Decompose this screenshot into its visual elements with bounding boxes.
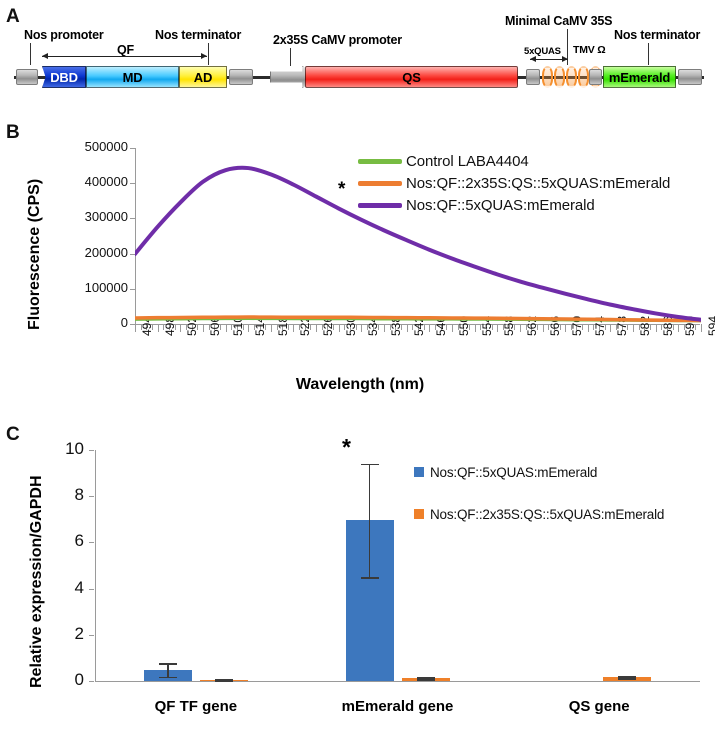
panel-b-x-tick bbox=[248, 324, 249, 332]
panel-c-error-cap bbox=[159, 677, 177, 679]
panel-b-x-tick bbox=[361, 324, 362, 332]
panel-a-construct-diagram: A Nos promoter QF Nos terminator 2x35S C… bbox=[0, 0, 715, 118]
measure-quas-span bbox=[530, 59, 568, 60]
legend-swatch-icon-qf-qs-quas bbox=[414, 509, 424, 519]
panel-c-error-cap bbox=[361, 577, 379, 579]
element-nos-terminator-1-block bbox=[229, 69, 253, 85]
leader-camv-promoter bbox=[290, 48, 291, 66]
legend-label-control: Control LABA4404 bbox=[406, 153, 529, 170]
legend-swatch-icon-control bbox=[358, 159, 402, 164]
legend-swatch-icon-qf-qs-quas bbox=[358, 181, 402, 186]
legend-item-qf-qs-quas[interactable]: Nos:QF::2x35S:QS::5xQUAS:mEmerald bbox=[414, 504, 664, 524]
legend-label-qf-qs-quas: Nos:QF::2x35S:QS::5xQUAS:mEmerald bbox=[406, 175, 670, 192]
panel-b-x-tick bbox=[135, 324, 136, 332]
panel-b-x-tick bbox=[407, 324, 408, 332]
panel-b-y-tick-label: 200000 bbox=[48, 245, 128, 260]
panel-c-y-tick-label: 4 bbox=[40, 578, 84, 598]
panel-c-category-label: QF TF gene bbox=[106, 698, 286, 715]
legend-swatch-icon-qf-quas bbox=[414, 467, 424, 477]
element-nos-promoter-block bbox=[16, 69, 38, 85]
panel-c-error-cap bbox=[159, 663, 177, 665]
label-nos-terminator-1: Nos terminator bbox=[155, 28, 241, 42]
panel-c-error-cap bbox=[417, 679, 435, 681]
panel-b-x-tick bbox=[543, 324, 544, 332]
panel-c-error-bar bbox=[369, 464, 371, 577]
measure-qf-span bbox=[42, 56, 207, 57]
element-spacer-grey-1 bbox=[526, 69, 540, 85]
panel-b-x-tick bbox=[293, 324, 294, 332]
legend-item-control[interactable]: Control LABA4404 bbox=[358, 150, 670, 172]
label-minimal-camv-35s: Minimal CaMV 35S bbox=[505, 14, 612, 28]
legend-item-qf-qs-quas[interactable]: Nos:QF::2x35S:QS::5xQUAS:mEmerald bbox=[358, 172, 670, 194]
panel-b-fluorescence-chart: B Fluorescence (CPS) Wavelength (nm) 010… bbox=[0, 118, 715, 418]
element-md: MD bbox=[86, 66, 179, 88]
panel-c-expression-chart: C Relative expression/GAPDH 0246810 QF T… bbox=[0, 418, 715, 750]
panel-b-legend: Control LABA4404 Nos:QF::2x35S:QS::5xQUA… bbox=[358, 150, 670, 216]
leader-nos-promoter bbox=[30, 43, 31, 65]
legend-label-qf-qs-quas: Nos:QF::2x35S:QS::5xQUAS:mEmerald bbox=[430, 507, 664, 522]
label-nos-promoter: Nos promoter bbox=[24, 28, 104, 42]
element-nos-terminator-2-block bbox=[678, 69, 702, 85]
panel-c-error-cap bbox=[361, 464, 379, 466]
panel-b-x-tick bbox=[678, 324, 679, 332]
label-qf: QF bbox=[117, 43, 134, 57]
panel-a-letter: A bbox=[6, 6, 20, 28]
panel-b-x-tick bbox=[180, 324, 181, 332]
panel-b-y-tick-label: 100000 bbox=[48, 280, 128, 295]
leader-nos-terminator-1 bbox=[208, 43, 209, 65]
panel-c-y-tick bbox=[89, 496, 94, 497]
panel-b-y-axis-title: Fluorescence (CPS) bbox=[26, 179, 44, 330]
panel-b-x-tick bbox=[384, 324, 385, 332]
panel-b-x-tick bbox=[429, 324, 430, 332]
panel-b-x-tick bbox=[226, 324, 227, 332]
panel-b-x-tick bbox=[339, 324, 340, 332]
panel-b-x-tick bbox=[203, 324, 204, 332]
panel-c-category-label: QS gene bbox=[509, 698, 689, 715]
element-ad: AD bbox=[179, 66, 227, 88]
panel-c-error-cap bbox=[618, 678, 636, 680]
panel-c-legend: Nos:QF::5xQUAS:mEmerald Nos:QF::2x35S:QS… bbox=[414, 462, 664, 524]
panel-c-y-tick bbox=[89, 542, 94, 543]
element-minimal-camv-tmv-block bbox=[589, 69, 602, 85]
panel-c-significance-star: * bbox=[342, 436, 351, 459]
panel-b-x-tick bbox=[588, 324, 589, 332]
panel-c-category-label: mEmerald gene bbox=[308, 698, 488, 715]
quas-repeat-icon bbox=[566, 66, 577, 88]
panel-c-y-tick-label: 8 bbox=[40, 485, 84, 505]
panel-b-y-tick-label: 0 bbox=[48, 315, 128, 330]
panel-c-y-tick-label: 10 bbox=[40, 439, 84, 459]
panel-b-letter: B bbox=[6, 122, 20, 144]
quas-repeat-icon bbox=[578, 66, 589, 88]
legend-label-qf-quas: Nos:QF::5xQUAS:mEmerald bbox=[406, 197, 595, 214]
label-tmv-omega: TMV Ω bbox=[573, 44, 606, 56]
quas-repeat-icon bbox=[542, 66, 553, 88]
legend-item-qf-quas[interactable]: Nos:QF::5xQUAS:mEmerald bbox=[358, 194, 670, 216]
panel-b-x-tick bbox=[452, 324, 453, 332]
legend-label-qf-quas: Nos:QF::5xQUAS:mEmerald bbox=[430, 465, 597, 480]
panel-b-significance-star: * bbox=[338, 180, 345, 199]
panel-c-letter: C bbox=[6, 424, 20, 446]
panel-b-x-tick bbox=[158, 324, 159, 332]
panel-b-y-tick-label: 300000 bbox=[48, 209, 128, 224]
panel-b-x-tick bbox=[316, 324, 317, 332]
panel-b-x-tick bbox=[497, 324, 498, 332]
panel-b-x-tick bbox=[475, 324, 476, 332]
panel-b-y-tick-label: 400000 bbox=[48, 174, 128, 189]
element-qs: QS bbox=[305, 66, 518, 88]
panel-b-x-tick bbox=[656, 324, 657, 332]
panel-b-x-tick-label: 594 bbox=[706, 316, 715, 336]
panel-c-y-tick bbox=[89, 681, 94, 682]
panel-b-x-tick bbox=[701, 324, 702, 332]
panel-b-x-tick bbox=[610, 324, 611, 332]
panel-c-y-tick-label: 2 bbox=[40, 624, 84, 644]
legend-swatch-icon-qf-quas bbox=[358, 203, 402, 208]
panel-b-x-tick bbox=[633, 324, 634, 332]
panel-c-x-axis-line bbox=[95, 681, 700, 682]
panel-c-error-bar bbox=[167, 663, 169, 677]
quas-repeat-icon bbox=[554, 66, 565, 88]
panel-b-x-tick bbox=[520, 324, 521, 332]
element-memerald: mEmerald bbox=[603, 66, 676, 88]
panel-c-y-tick bbox=[89, 635, 94, 636]
panel-c-y-tick bbox=[89, 450, 94, 451]
panel-b-y-tick-label: 500000 bbox=[48, 139, 128, 154]
panel-c-y-axis-line bbox=[95, 450, 96, 681]
panel-c-y-tick-label: 0 bbox=[40, 670, 84, 690]
legend-item-qf-quas[interactable]: Nos:QF::5xQUAS:mEmerald bbox=[414, 462, 664, 482]
panel-b-x-tick bbox=[271, 324, 272, 332]
label-nos-terminator-2: Nos terminator bbox=[614, 28, 700, 42]
panel-c-y-tick-label: 6 bbox=[40, 531, 84, 551]
label-camv-promoter: 2x35S CaMV promoter bbox=[273, 33, 402, 47]
panel-c-y-tick bbox=[89, 589, 94, 590]
element-dbd: DBD bbox=[42, 66, 86, 88]
panel-b-x-axis-title: Wavelength (nm) bbox=[200, 376, 520, 394]
panel-b-x-tick bbox=[565, 324, 566, 332]
panel-c-error-cap bbox=[215, 680, 233, 682]
leader-nos-terminator-2 bbox=[648, 43, 649, 65]
